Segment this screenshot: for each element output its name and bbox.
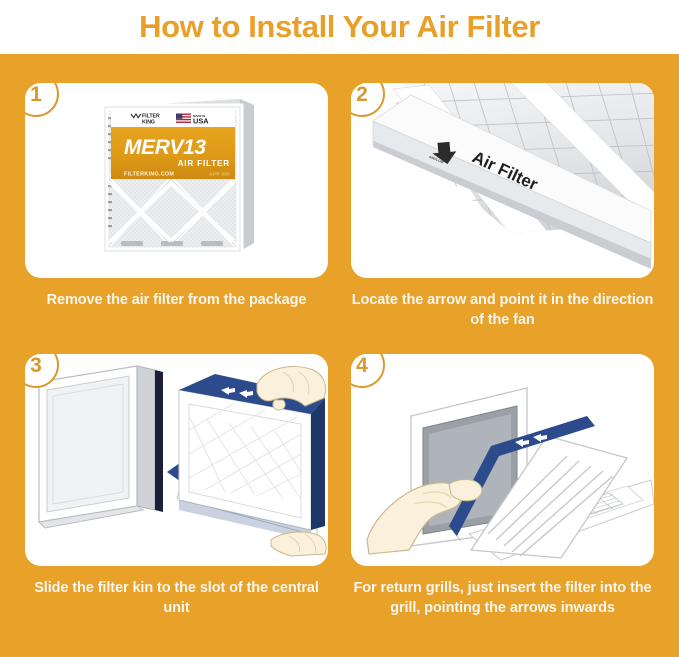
- infographic-root: How to Install Your Air Filter: [0, 0, 679, 657]
- filter-corner-photo: AIRFLOW Air Filter: [351, 83, 654, 278]
- step-1-caption: Remove the air filter from the package: [25, 291, 328, 311]
- website-text: FILTERKING.COM: [124, 172, 174, 178]
- apr-rating-text: APR 850: [209, 172, 230, 177]
- step-1-card-surface: FILTER KING: [25, 83, 328, 278]
- return-grill-insert-diagram: [351, 354, 654, 566]
- page-title: How to Install Your Air Filter: [139, 9, 540, 45]
- step-card-4: 4: [351, 354, 654, 566]
- step-2-illustration: AIRFLOW Air Filter: [351, 83, 654, 278]
- steps-grid: FILTER KING: [0, 54, 679, 657]
- air-filter-subtitle: AIR FILTER: [178, 159, 230, 168]
- merv-rating-text: MERV13: [124, 136, 206, 159]
- step-4-card-surface: 4: [351, 354, 654, 566]
- title-bar: How to Install Your Air Filter: [0, 0, 679, 54]
- svg-text:USA: USA: [193, 117, 209, 126]
- slide-filter-into-slot-diagram: [25, 354, 328, 566]
- svg-text:KING: KING: [142, 119, 155, 125]
- step-3-card-surface: 3: [25, 354, 328, 566]
- step-1-illustration: FILTER KING: [25, 83, 328, 278]
- step-2-card-surface: AIRFLOW Air Filter 2: [351, 83, 654, 278]
- air-filter-product-photo: FILTER KING: [25, 83, 328, 278]
- step-2-caption: Locate the arrow and point it in the dir…: [351, 291, 654, 330]
- step-3-illustration: [25, 354, 328, 566]
- step-3-caption: Slide the filter kin to the slot of the …: [25, 579, 328, 618]
- step-card-1: FILTER KING: [25, 83, 328, 278]
- step-4-illustration: [351, 354, 654, 566]
- step-4-caption: For return grills, just insert the filte…: [351, 579, 654, 618]
- step-card-2: AIRFLOW Air Filter 2: [351, 83, 654, 278]
- step-card-3: 3: [25, 354, 328, 566]
